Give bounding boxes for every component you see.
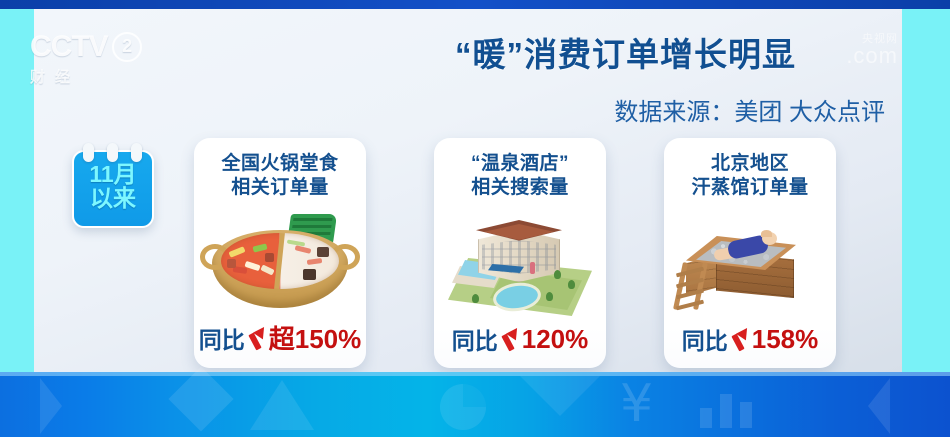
person-head <box>762 232 777 245</box>
chevron-left-icon <box>40 378 62 434</box>
diamond-icon <box>168 366 233 431</box>
card-stat: 同比 120% <box>434 322 606 356</box>
arrow-up-icon <box>499 326 521 352</box>
stat-value: 158% <box>752 324 819 355</box>
tree-icon <box>546 292 553 301</box>
stat-card-sauna: 北京地区 汗蒸馆订单量 同比 158% <box>664 138 836 368</box>
stat-label: 同比 <box>452 322 498 356</box>
pie-chart-icon <box>440 384 486 430</box>
hotpot-illustration <box>194 212 366 322</box>
stat-label: 同比 <box>682 322 728 356</box>
broadcast-graphic: CCTV 2 财经 央视网 .com “暖”消费订单增长明显 数据来源：美团 大… <box>0 0 950 437</box>
person-icon <box>530 262 535 274</box>
period-badge-line1: 11月 <box>74 162 152 186</box>
triangle-icon <box>250 380 314 430</box>
band-highlight-line <box>0 372 950 376</box>
period-badge: 11月 以来 <box>72 150 154 228</box>
chevron-down-icon <box>520 376 600 416</box>
card-stat: 同比 158% <box>664 322 836 356</box>
broth-area <box>221 233 339 289</box>
arrow-up-icon <box>246 325 268 351</box>
chevron-right-icon <box>868 378 890 434</box>
sauna-illustration <box>664 212 836 322</box>
ladder-icon <box>674 262 708 310</box>
card-title: 北京地区 汗蒸馆订单量 <box>664 152 836 201</box>
data-source-label: 数据来源：美团 大众点评 <box>455 92 885 127</box>
page-title: “暖”消费订单增长明显 <box>455 28 885 76</box>
stat-label: 同比 <box>199 321 245 355</box>
stat-card-hotspring-hotel: “温泉酒店” 相关搜索量 同比 1 <box>434 138 606 368</box>
calendar-rings-icon <box>74 143 152 159</box>
card-title: 全国火锅堂食 相关订单量 <box>194 152 366 201</box>
bar-chart-icon <box>700 386 754 428</box>
pot-divider <box>274 233 285 289</box>
top-frame-strip <box>0 0 950 9</box>
left-frame-strip <box>0 9 34 372</box>
right-frame-strip <box>902 9 950 372</box>
card-stat: 同比 超150% <box>194 319 366 356</box>
stat-value: 120% <box>522 324 589 355</box>
tree-icon <box>554 270 561 279</box>
tree-icon <box>568 280 575 289</box>
yen-symbol-icon: ¥ <box>620 378 653 430</box>
stat-card-hotpot: 全国火锅堂食 相关订单量 同比 超150% <box>194 138 366 368</box>
period-badge-line2: 以来 <box>74 186 152 210</box>
period-badge-text: 11月 以来 <box>74 162 152 210</box>
tree-icon <box>472 294 479 303</box>
card-title: “温泉酒店” 相关搜索量 <box>434 152 606 201</box>
stat-value: 超150% <box>269 319 362 356</box>
arrow-up-icon <box>729 326 751 352</box>
hotel-illustration <box>434 212 606 322</box>
bottom-decorative-band: ¥ <box>0 372 950 437</box>
